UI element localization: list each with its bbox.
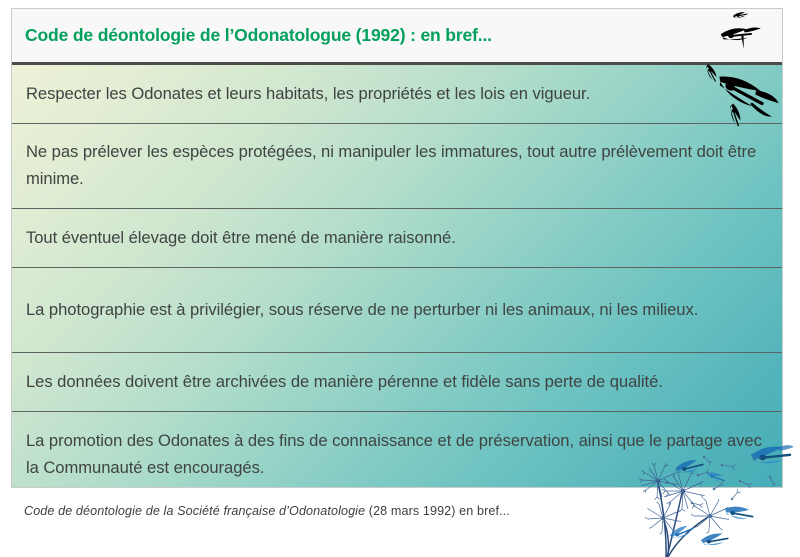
code-of-ethics-table: Code de déontologie de l’Odonatologue (1… [11,8,783,488]
table-row: Tout éventuel élevage doit être mené de … [12,209,782,268]
rule-text: La promotion des Odonates à des fins de … [26,428,766,482]
table-body: Respecter les Odonates et leurs habitats… [12,65,782,488]
table-row: Respecter les Odonates et leurs habitats… [12,65,782,124]
caption-regular-part: (28 mars 1992) en bref... [365,504,510,518]
table-row: La photographie est à privilégier, sous … [12,268,782,353]
table-row: Ne pas prélever les espèces protégées, n… [12,124,782,209]
table-row: Les données doivent être archivées de ma… [12,353,782,412]
figure-caption: Code de déontologie de la Société frança… [24,504,510,518]
caption-italic-part: Code de déontologie de la Société frança… [24,504,365,518]
slide-canvas: Code de déontologie de l’Odonatologue (1… [0,0,800,557]
table-title: Code de déontologie de l’Odonatologue (1… [12,25,492,46]
rule-text: Les données doivent être archivées de ma… [26,369,766,396]
rule-text: Ne pas prélever les espèces protégées, n… [26,139,766,193]
rule-text: Respecter les Odonates et leurs habitats… [26,81,766,108]
table-row: La promotion des Odonates à des fins de … [12,412,782,488]
rule-text: Tout éventuel élevage doit être mené de … [26,225,766,252]
table-header-row: Code de déontologie de l’Odonatologue (1… [12,9,782,65]
rule-text: La photographie est à privilégier, sous … [26,297,766,324]
